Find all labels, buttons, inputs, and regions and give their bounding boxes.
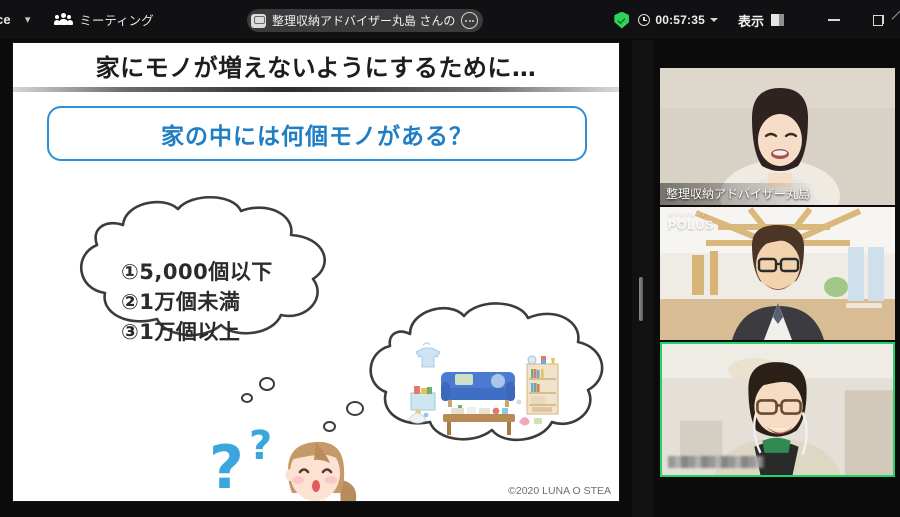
polus-watermark: ポラスグループ POLUS — [668, 212, 714, 232]
thought-bubble-dot — [346, 401, 364, 416]
question-mark-large-icon: ? — [209, 438, 244, 498]
minimize-icon — [828, 19, 840, 21]
list-item: ③1万個以上 — [121, 318, 361, 348]
list-item: ②1万個未満 — [121, 288, 361, 318]
video-rail: 整理収納アドバイザー丸島 — [654, 40, 900, 517]
screen-share-icon — [251, 14, 266, 28]
video-tile-active-speaker[interactable] — [660, 342, 895, 477]
titlebar: ce ▾ ミーティング 整理収納アドバイザー丸島 さんの 00:57:35 — [0, 0, 900, 40]
chevron-down-icon[interactable]: ▾ — [25, 13, 31, 26]
meeting-tab-label: ミーティング — [79, 10, 153, 29]
minimize-button[interactable] — [812, 0, 856, 40]
participant-name-label: 整理収納アドバイザー丸島 — [660, 183, 816, 205]
clock-icon — [638, 14, 650, 26]
restore-window-icon — [873, 15, 884, 26]
options-list: ①5,000個以下 ②1万個未満 ③1万個以上 — [121, 258, 361, 347]
question-box: 家の中には何個モノがある？ — [47, 106, 587, 161]
video-tile[interactable]: 整理収納アドバイザー丸島 — [660, 68, 895, 205]
video-tile[interactable]: ポラスグループ POLUS — [660, 207, 895, 340]
chevron-down-icon[interactable] — [710, 18, 718, 22]
slide-title: 家にモノが増えないようにするために… — [13, 48, 619, 83]
messy-room-illustration — [401, 338, 576, 438]
list-item: ①5,000個以下 — [121, 258, 361, 288]
titlebar-right: 00:57:35 表示 — [614, 0, 900, 40]
shield-check-icon[interactable] — [614, 12, 629, 29]
screen-share-title: 整理収納アドバイザー丸島 さんの — [272, 12, 455, 29]
copyright-label: ©2020 LUNA O STEA — [508, 485, 611, 497]
drag-handle-icon[interactable] — [639, 277, 643, 321]
people-icon — [54, 13, 72, 27]
polus-watermark-text: POLUS — [668, 218, 714, 232]
panel-divider[interactable] — [632, 40, 654, 517]
thinking-woman-illustration — [258, 428, 383, 502]
meeting-timer[interactable]: 00:57:35 — [638, 13, 718, 27]
elapsed-time-label: 00:57:35 — [655, 13, 705, 27]
meeting-tab[interactable]: ミーティング — [54, 10, 153, 29]
participant-name-label-blurred — [668, 456, 764, 468]
presentation-slide: 家にモノが増えないようにするために… 家の中には何個モノがある？ ①5,000個… — [12, 42, 620, 502]
meeting-window: ce ▾ ミーティング 整理収納アドバイザー丸島 さんの 00:57:35 — [0, 0, 900, 517]
titlebar-left: ce ▾ ミーティング — [0, 10, 154, 29]
display-menu-label: 表示 — [738, 11, 764, 30]
app-name-label: ce — [0, 12, 11, 27]
layout-icon — [771, 14, 784, 26]
question-box-text: 家の中には何個モノがある？ — [161, 117, 473, 151]
polus-watermark-sub: ポラスグループ — [668, 212, 714, 218]
shared-screen-stage[interactable]: 家にモノが増えないようにするために… 家の中には何個モノがある？ ①5,000個… — [0, 40, 632, 517]
screen-share-pill[interactable]: 整理収納アドバイザー丸島 さんの — [247, 9, 483, 32]
more-options-icon[interactable] — [461, 12, 478, 29]
thought-bubble-dot — [241, 393, 253, 403]
display-menu-button[interactable]: 表示 — [738, 11, 784, 30]
title-underline-rule — [13, 87, 619, 92]
thought-bubble-dot — [259, 377, 275, 391]
